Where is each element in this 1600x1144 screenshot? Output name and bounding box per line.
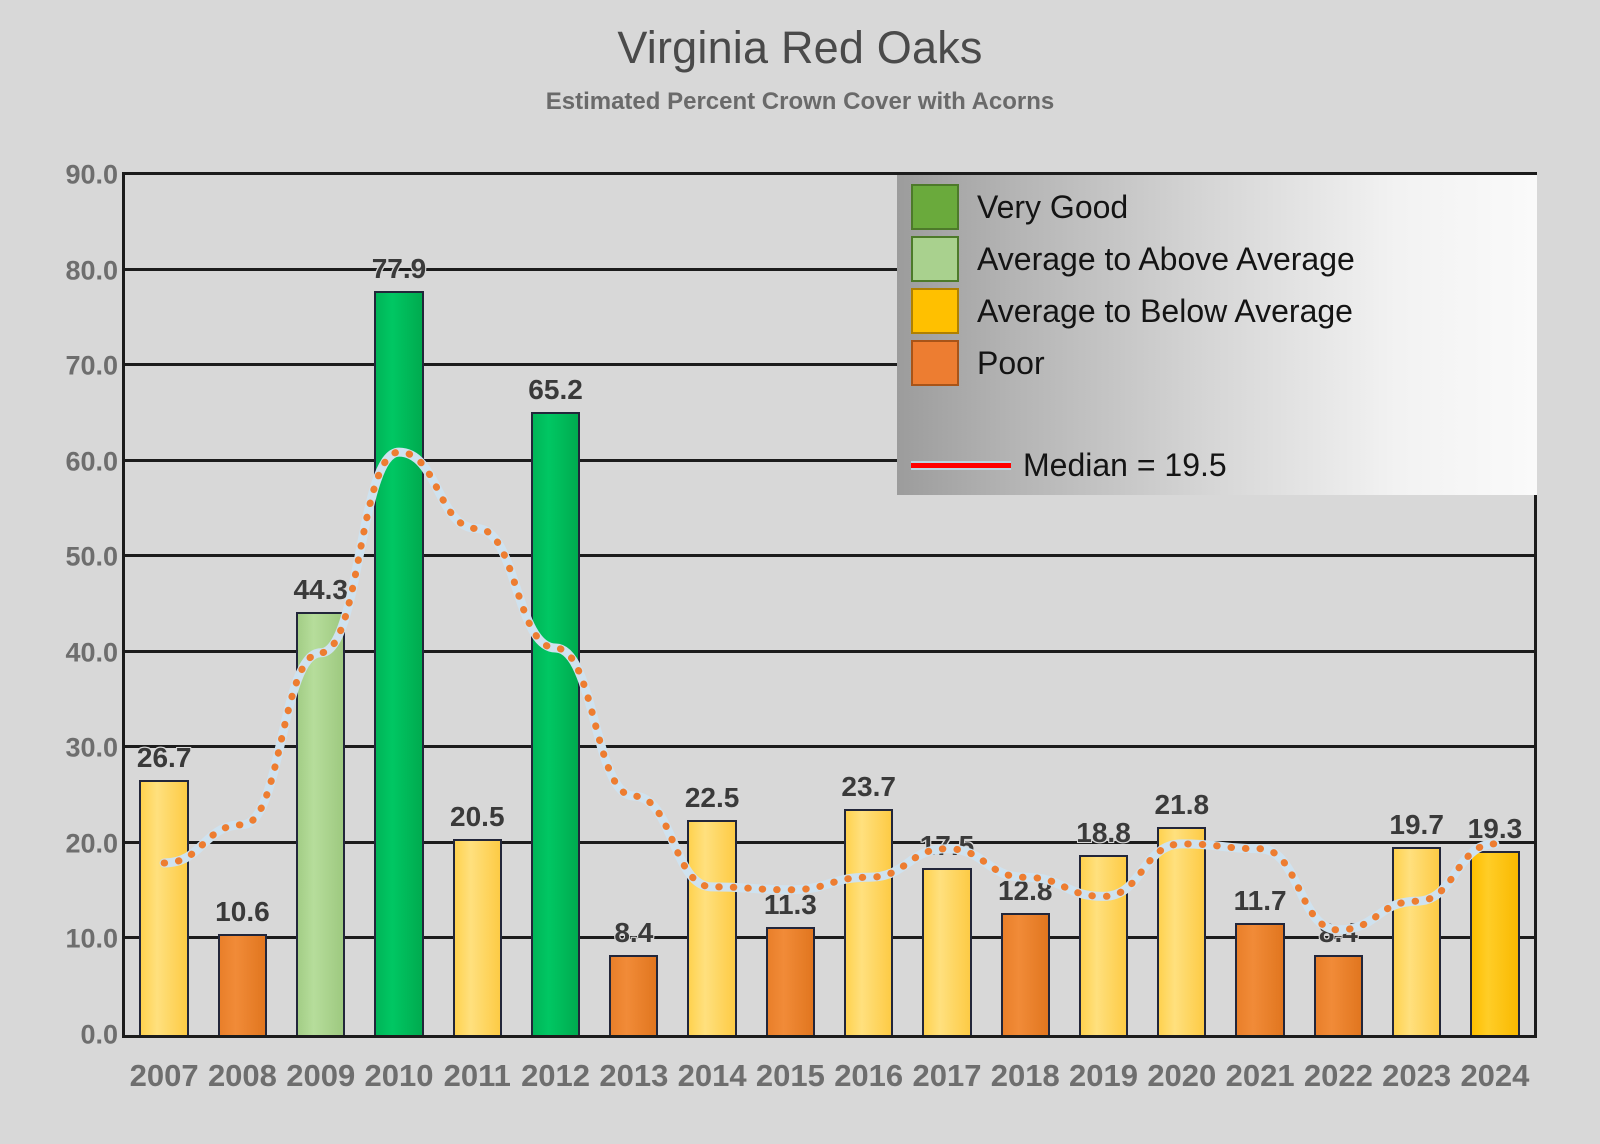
x-axis-tick-label: 2011 [438, 1058, 516, 1094]
x-axis-tick-label: 2022 [1299, 1058, 1377, 1094]
bar-value-label: 77.9 [372, 253, 427, 285]
y-axis-tick-label: 0.0 [8, 1020, 118, 1051]
bar-2010[interactable]: 77.9 [374, 291, 423, 1035]
bar-2021[interactable]: 11.7 [1235, 923, 1284, 1035]
bar-slot: 77.9 [360, 175, 438, 1035]
x-axis-tick-label: 2024 [1456, 1058, 1534, 1094]
x-axis-tick-label: 2014 [673, 1058, 751, 1094]
bar-slot: 26.7 [125, 175, 203, 1035]
legend: Very GoodAverage to Above AverageAverage… [897, 175, 1537, 495]
bar-slot: 8.4 [595, 175, 673, 1035]
legend-entry-label: Average to Above Average [977, 241, 1355, 278]
x-axis-tick-label: 2017 [908, 1058, 986, 1094]
x-axis-tick-label: 2009 [282, 1058, 360, 1094]
bar-2012[interactable]: 65.2 [531, 412, 580, 1035]
bar-2014[interactable]: 22.5 [687, 820, 736, 1035]
bar-value-label: 26.7 [137, 742, 192, 774]
bar-slot: 20.5 [438, 175, 516, 1035]
x-axis-tick-label: 2007 [125, 1058, 203, 1094]
bar-2011[interactable]: 20.5 [453, 839, 502, 1035]
x-axis-tick-label: 2008 [203, 1058, 281, 1094]
bar-value-label: 10.6 [215, 896, 270, 928]
bar-value-label: 12.8 [998, 875, 1053, 907]
bar-2013[interactable]: 8.4 [609, 955, 658, 1035]
bar-value-label: 19.7 [1389, 809, 1444, 841]
legend-swatch-icon [911, 236, 959, 282]
bar-slot: 44.3 [282, 175, 360, 1035]
legend-entries: Very GoodAverage to Above AverageAverage… [911, 181, 1355, 389]
bar-2018[interactable]: 12.8 [1001, 913, 1050, 1035]
y-axis-tick-label: 70.0 [8, 351, 118, 382]
x-axis-tick-label: 2021 [1221, 1058, 1299, 1094]
x-axis-tick-label: 2015 [751, 1058, 829, 1094]
bar-value-label: 20.5 [450, 801, 505, 833]
y-axis-tick-label: 30.0 [8, 733, 118, 764]
bar-value-label: 65.2 [528, 374, 583, 406]
y-axis-tick-label: 60.0 [8, 446, 118, 477]
bar-value-label: 44.3 [293, 574, 348, 606]
y-axis-tick-label: 80.0 [8, 255, 118, 286]
legend-entry-label: Very Good [977, 189, 1128, 226]
bar-value-label: 21.8 [1155, 789, 1210, 821]
y-axis-tick-label: 20.0 [8, 828, 118, 859]
x-axis-tick-label: 2013 [595, 1058, 673, 1094]
x-axis-tick-label: 2018 [986, 1058, 1064, 1094]
bar-slot: 11.3 [751, 175, 829, 1035]
bar-2007[interactable]: 26.7 [139, 780, 188, 1035]
bar-slot: 65.2 [516, 175, 594, 1035]
bar-2023[interactable]: 19.7 [1392, 847, 1441, 1035]
y-axis-tick-label: 90.0 [8, 160, 118, 191]
bar-value-label: 22.5 [685, 782, 740, 814]
legend-entry-label: Poor [977, 345, 1045, 382]
bar-2017[interactable]: 17.5 [922, 868, 971, 1035]
chart-subtitle: Estimated Percent Crown Cover with Acorn… [0, 88, 1600, 116]
bar-2019[interactable]: 18.8 [1079, 855, 1128, 1035]
bar-2022[interactable]: 8.4 [1314, 955, 1363, 1035]
chart-root: Virginia Red Oaks Estimated Percent Crow… [0, 0, 1600, 1144]
bar-value-label: 8.4 [614, 917, 653, 949]
median-line-icon [911, 461, 1011, 470]
legend-median-label: Median = 19.5 [1023, 447, 1227, 484]
legend-swatch-icon [911, 184, 959, 230]
bar-slot: 22.5 [673, 175, 751, 1035]
y-axis-tick-label: 40.0 [8, 637, 118, 668]
bar-value-label: 11.7 [1234, 885, 1287, 917]
x-axis-ticks: 2007200820092010201120122013201420152016… [125, 1058, 1534, 1094]
legend-entry-poor[interactable]: Poor [911, 337, 1355, 389]
legend-median-entry: Median = 19.5 [911, 447, 1227, 484]
bar-value-label: 19.3 [1468, 813, 1523, 845]
y-axis-tick-label: 50.0 [8, 542, 118, 573]
x-axis-tick-label: 2012 [516, 1058, 594, 1094]
legend-entry-label: Average to Below Average [977, 293, 1353, 330]
bar-2024[interactable]: 19.3 [1470, 851, 1519, 1035]
bar-value-label: 8.4 [1319, 917, 1358, 949]
x-axis-tick-label: 2016 [830, 1058, 908, 1094]
x-axis-tick-label: 2010 [360, 1058, 438, 1094]
x-axis-tick-label: 2020 [1143, 1058, 1221, 1094]
y-axis-tick-label: 10.0 [8, 924, 118, 955]
legend-swatch-icon [911, 340, 959, 386]
bar-slot: 10.6 [203, 175, 281, 1035]
x-axis-tick-label: 2019 [1064, 1058, 1142, 1094]
bar-2016[interactable]: 23.7 [844, 809, 893, 1035]
bar-value-label: 17.5 [920, 830, 975, 862]
x-axis-tick-label: 2023 [1378, 1058, 1456, 1094]
bar-value-label: 11.3 [764, 889, 817, 921]
bar-2020[interactable]: 21.8 [1157, 827, 1206, 1035]
bar-value-label: 23.7 [841, 771, 896, 803]
bar-value-label: 18.8 [1076, 817, 1131, 849]
legend-swatch-icon [911, 288, 959, 334]
bar-2008[interactable]: 10.6 [218, 934, 267, 1035]
legend-entry-avgabove[interactable]: Average to Above Average [911, 233, 1355, 285]
chart-title: Virginia Red Oaks [0, 22, 1600, 74]
bar-2009[interactable]: 44.3 [296, 612, 345, 1035]
bar-2015[interactable]: 11.3 [766, 927, 815, 1035]
legend-entry-verygood[interactable]: Very Good [911, 181, 1355, 233]
legend-entry-avgbelow[interactable]: Average to Below Average [911, 285, 1355, 337]
